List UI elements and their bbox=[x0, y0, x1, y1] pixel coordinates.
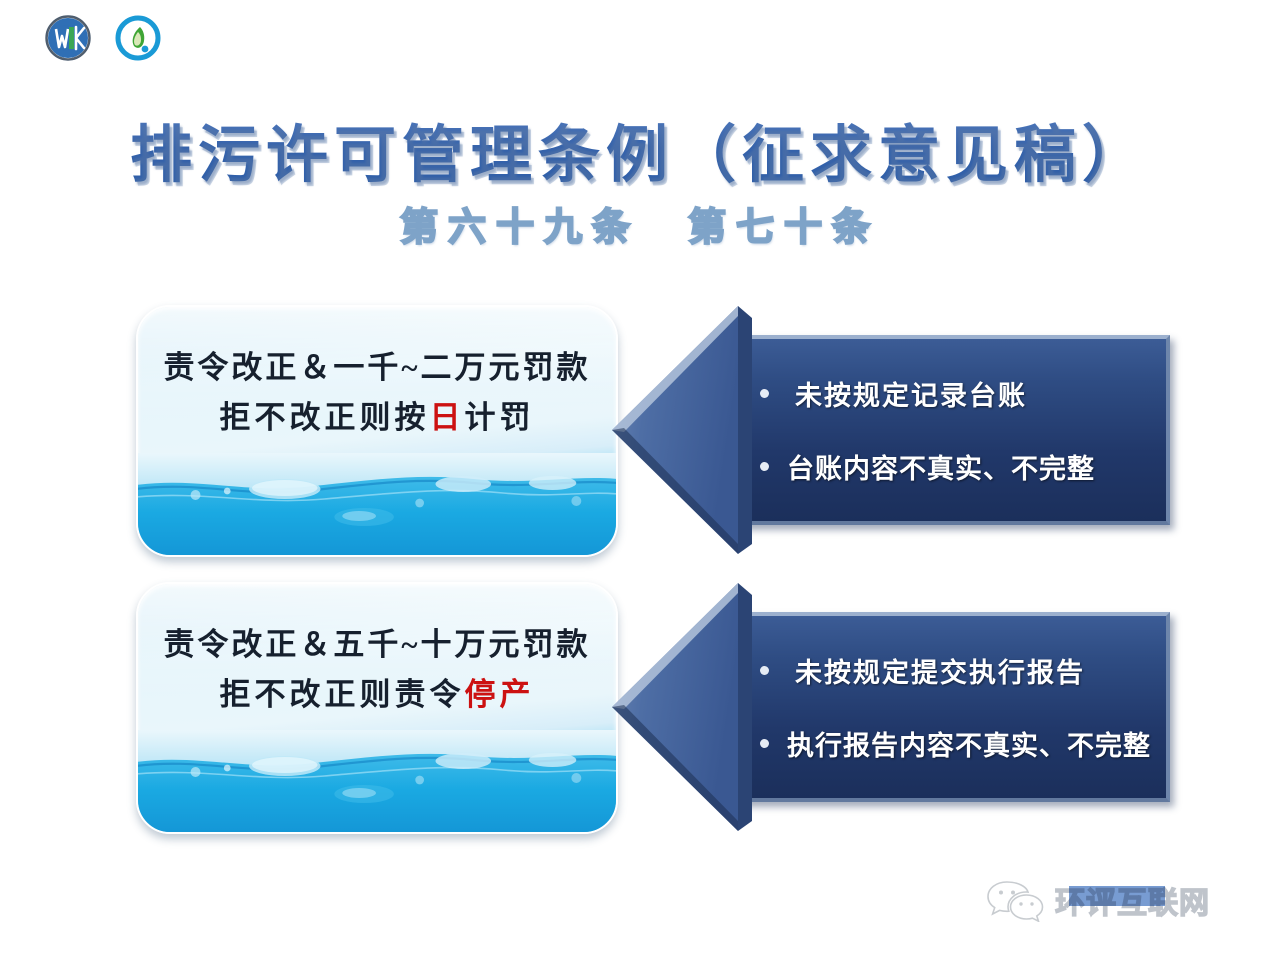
violation-panel-70: 未按规定提交执行报告 执行报告内容不真实、不完整 bbox=[730, 612, 1170, 802]
penalty-line-2-before: 拒不改正则责令 bbox=[220, 677, 465, 712]
violation-item: 未按规定提交执行报告 bbox=[760, 651, 1156, 690]
water-illustration bbox=[136, 453, 618, 557]
page-title: 排污许可管理条例（征求意见稿） bbox=[0, 104, 1280, 194]
penalty-card-69-text: 责令改正＆一千~二万元罚款 拒不改正则按日计罚 bbox=[138, 343, 616, 443]
penalty-line-2-after: 计罚 bbox=[465, 400, 535, 435]
violation-item: 执行报告内容不真实、不完整 bbox=[760, 724, 1156, 763]
penalty-card-70: 责令改正＆五千~十万元罚款 拒不改正则责令停产 bbox=[136, 582, 618, 834]
penalty-line-1: 责令改正＆一千~二万元罚款 bbox=[138, 343, 616, 393]
arrow-head-left-icon bbox=[612, 300, 758, 560]
violation-item-label: 台账内容不真实、不完整 bbox=[787, 447, 1095, 486]
water-authority-logo bbox=[44, 14, 92, 62]
violation-item-label: 执行报告内容不真实、不完整 bbox=[787, 724, 1151, 763]
violation-item-label: 未按规定记录台账 bbox=[795, 374, 1027, 413]
wechat-icon bbox=[985, 878, 1047, 922]
penalty-line-2-highlight: 停产 bbox=[465, 677, 535, 712]
violation-arrow-69: 未按规定记录台账 台账内容不真实、不完整 bbox=[612, 300, 1172, 560]
watermark-label: 环评互联网 bbox=[1055, 878, 1210, 922]
eco-environment-logo bbox=[114, 14, 162, 62]
violation-list-69: 未按规定记录台账 台账内容不真实、不完整 bbox=[760, 339, 1156, 521]
page-subtitle: 第六十九条 第七十条 bbox=[0, 196, 1280, 251]
violation-item: 未按规定记录台账 bbox=[760, 374, 1156, 413]
bullet-icon bbox=[760, 389, 769, 398]
bullet-icon bbox=[760, 666, 769, 675]
penalty-line-2: 拒不改正则按日计罚 bbox=[138, 393, 616, 443]
violation-arrow-70: 未按规定提交执行报告 执行报告内容不真实、不完整 bbox=[612, 577, 1172, 837]
water-illustration bbox=[136, 730, 618, 834]
logo-bar bbox=[40, 14, 240, 70]
penalty-line-2: 拒不改正则责令停产 bbox=[138, 670, 616, 720]
row-article-70: 责令改正＆五千~十万元罚款 拒不改正则责令停产 bbox=[0, 577, 1280, 837]
penalty-card-69: 责令改正＆一千~二万元罚款 拒不改正则按日计罚 bbox=[136, 305, 618, 557]
arrow-head-left-icon bbox=[612, 577, 758, 837]
bullet-icon bbox=[760, 739, 769, 748]
violation-item: 台账内容不真实、不完整 bbox=[760, 447, 1156, 486]
watermark: 环评互联网 bbox=[985, 874, 1245, 926]
violation-list-70: 未按规定提交执行报告 执行报告内容不真实、不完整 bbox=[760, 616, 1156, 798]
violation-panel-69: 未按规定记录台账 台账内容不真实、不完整 bbox=[730, 335, 1170, 525]
penalty-line-2-before: 拒不改正则按 bbox=[220, 400, 430, 435]
penalty-card-70-text: 责令改正＆五千~十万元罚款 拒不改正则责令停产 bbox=[138, 620, 616, 720]
penalty-line-1: 责令改正＆五千~十万元罚款 bbox=[138, 620, 616, 670]
slide-canvas: 排污许可管理条例（征求意见稿） 排污许可管理条例（征求意见稿） 第六十九条 第七… bbox=[0, 0, 1280, 960]
bullet-icon bbox=[760, 462, 769, 471]
violation-item-label: 未按规定提交执行报告 bbox=[795, 651, 1085, 690]
row-article-69: 责令改正＆一千~二万元罚款 拒不改正则按日计罚 bbox=[0, 300, 1280, 560]
penalty-line-2-highlight: 日 bbox=[430, 400, 465, 435]
